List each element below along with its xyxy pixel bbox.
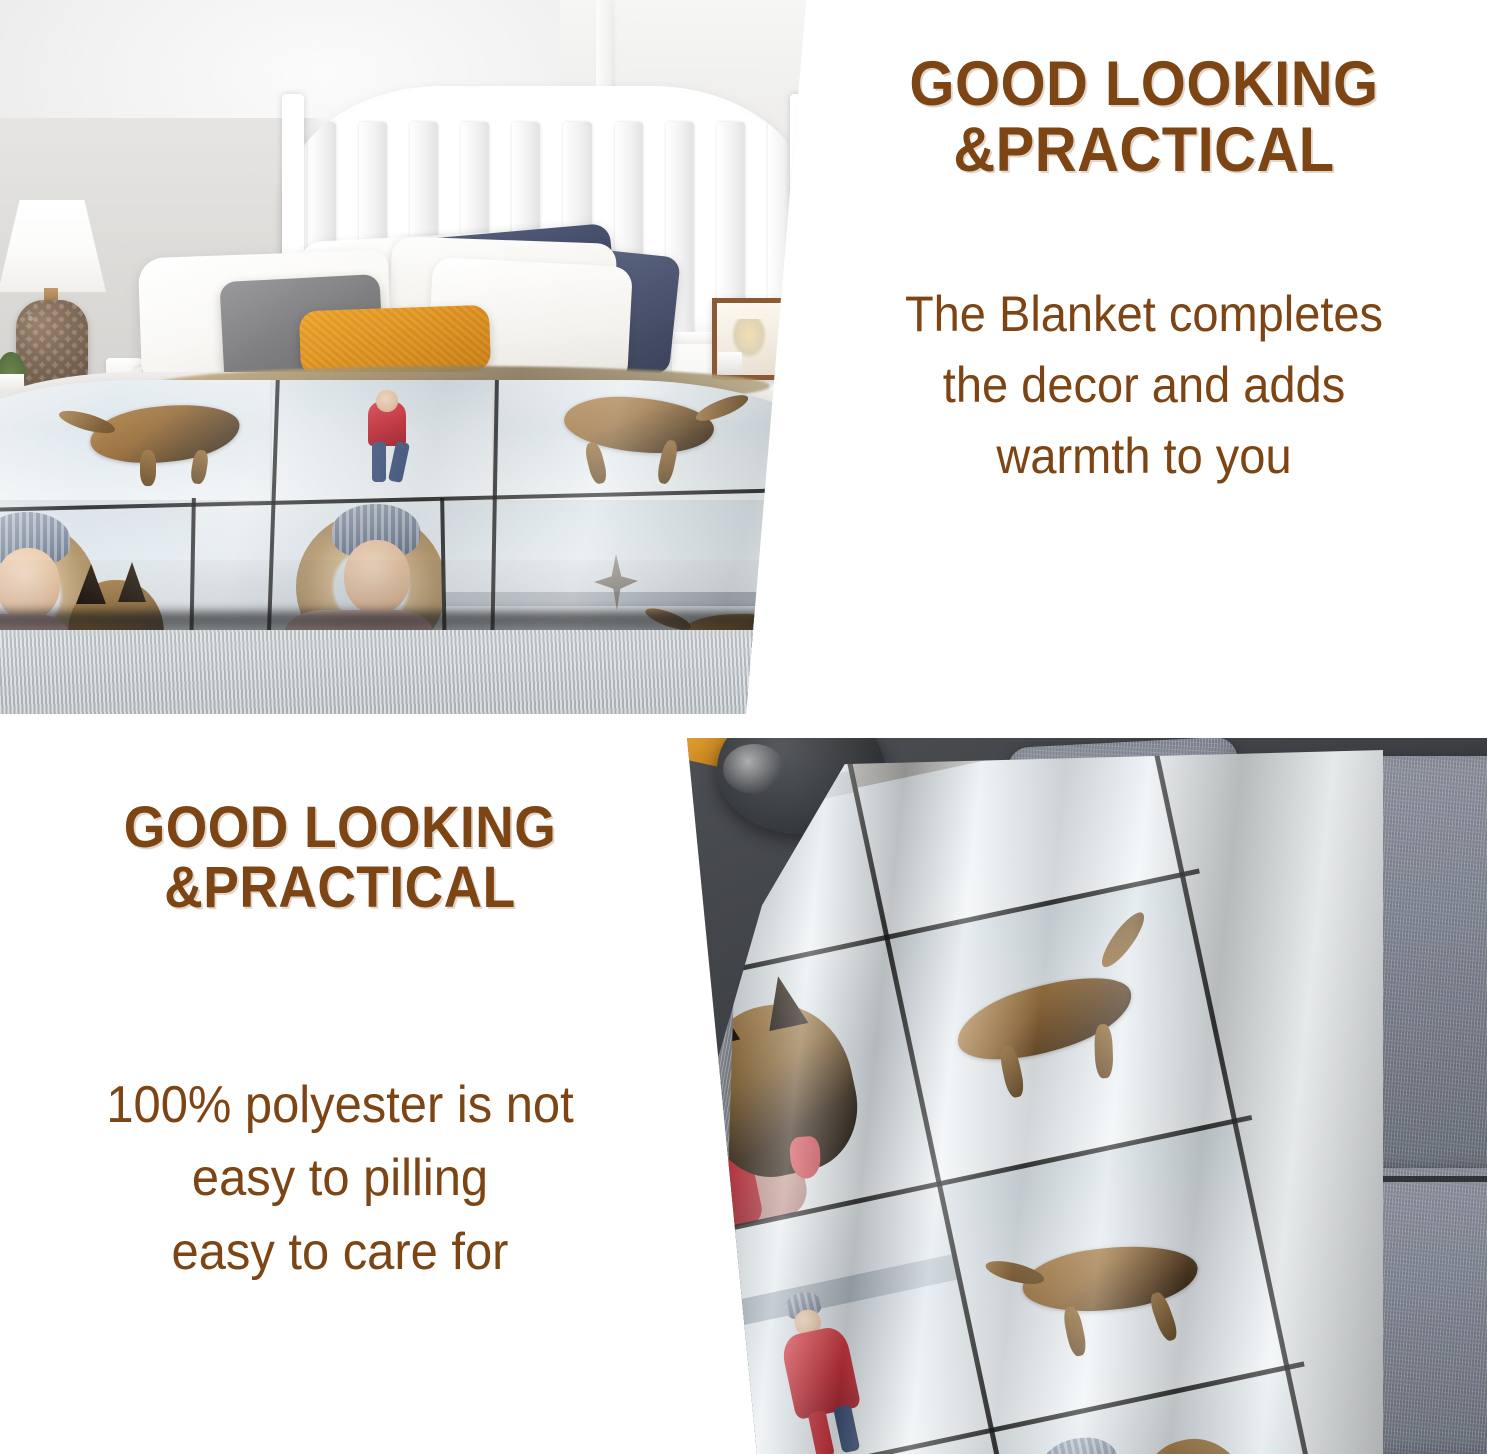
collage-cell-snow-1 [0,380,270,500]
top-body-line2: the decor and adds [819,350,1469,421]
glass-vase [718,352,742,374]
bedroom-product-photo [0,0,810,714]
top-body-copy: The Blanket completes the decor and adds… [819,279,1469,492]
bottom-body-copy: 100% polyester is not easy to pilling ea… [30,1069,650,1290]
bottom-headline-line2: &PRACTICAL [36,858,643,918]
bottom-body-line1: 100% polyester is not [30,1069,650,1143]
bottom-body-line3: easy to care for [30,1216,650,1290]
top-headline: GOOD LOOKING &PRACTICAL [826,52,1463,183]
bottom-copy-block: GOOD LOOKING &PRACTICAL 100% polyester i… [10,798,670,1290]
top-body-line1: The Blanket completes [819,279,1469,350]
collage-cell-skater [272,380,492,500]
marketing-image-canvas: GOOD LOOKING &PRACTICAL The Blanket comp… [0,0,1500,1454]
top-body-line3: warmth to you [819,421,1469,492]
top-copy-block: GOOD LOOKING &PRACTICAL The Blanket comp… [798,52,1490,492]
top-headline-line1: GOOD LOOKING [826,52,1463,118]
sofa-product-photo [681,738,1487,1454]
sofa-blanket-photo-grid [693,750,1383,1454]
bottom-headline-line1: GOOD LOOKING [36,798,643,858]
collage-blanket-on-sofa [693,750,1383,1454]
shag-rug [0,630,810,714]
top-headline-line2: &PRACTICAL [826,118,1463,184]
collage-cell-dog-jump [494,380,810,500]
pendant-lamp-highlight [723,744,785,794]
bottom-body-line2: easy to pilling [30,1142,650,1216]
bottom-headline: GOOD LOOKING &PRACTICAL [36,798,643,919]
